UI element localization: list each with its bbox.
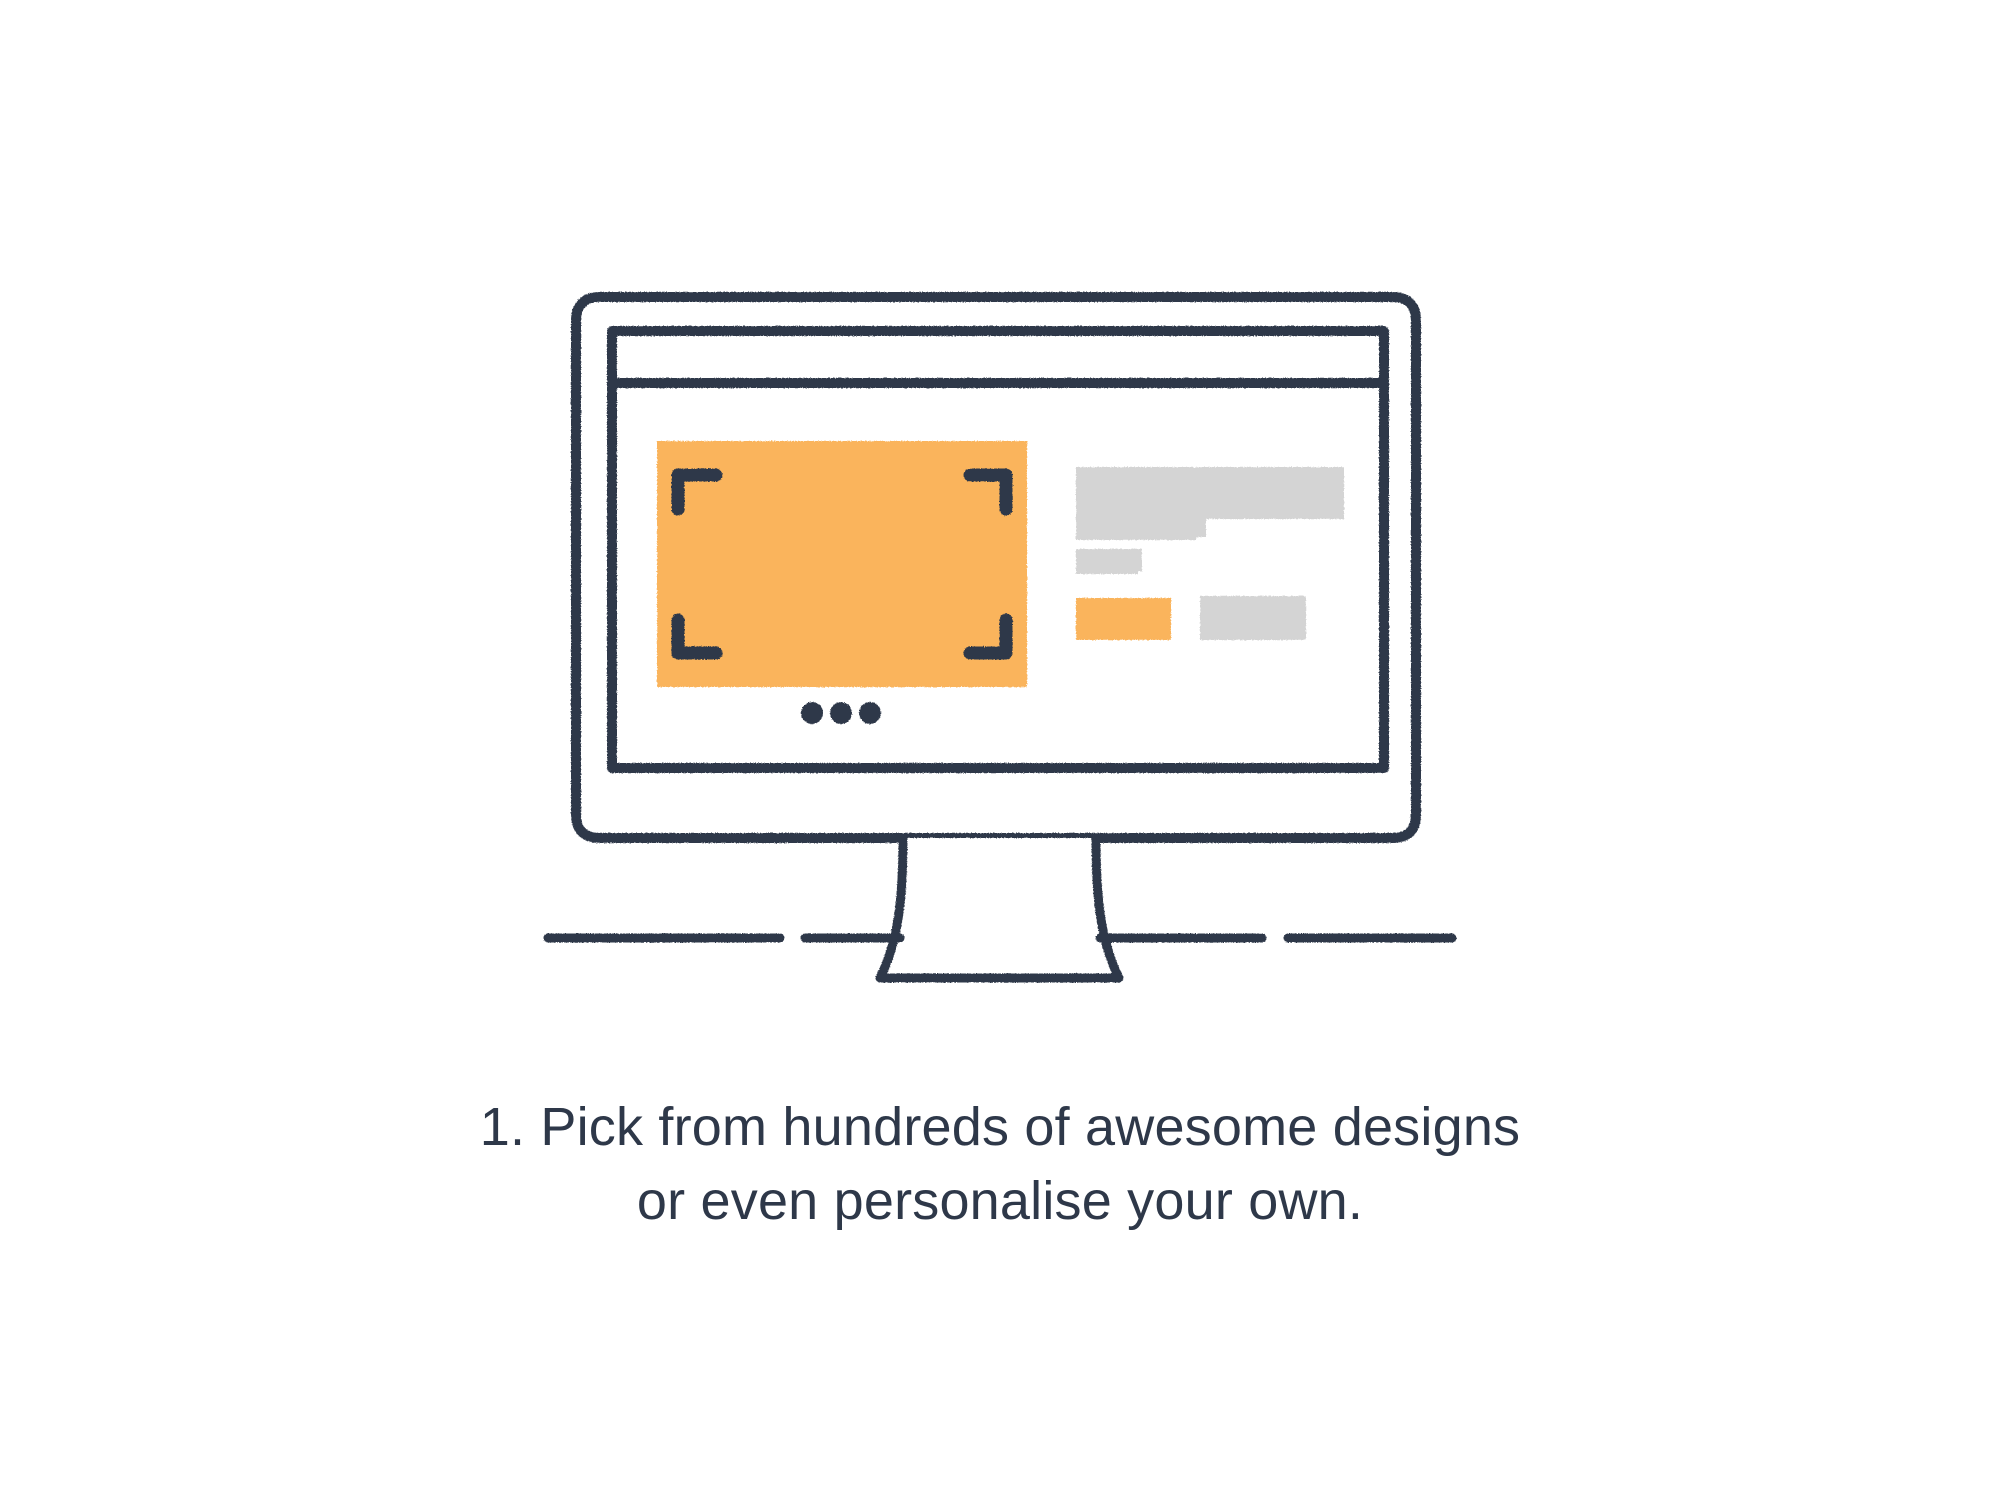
illustration-page: 1. Pick from hundreds of awesome designs… bbox=[0, 0, 2000, 1500]
caption-line-2: or even personalise your own. bbox=[0, 1164, 2000, 1238]
step-caption: 1. Pick from hundreds of awesome designs… bbox=[0, 1090, 2000, 1238]
primary-button-placeholder bbox=[1076, 598, 1171, 640]
body-line-1b-placeholder bbox=[1076, 513, 1206, 537]
carousel-dot-3 bbox=[859, 702, 881, 724]
caption-line-1: 1. Pick from hundreds of awesome designs bbox=[0, 1090, 2000, 1164]
monitor-stand-neck bbox=[880, 838, 1119, 978]
body-line-2b-placeholder bbox=[1076, 549, 1142, 571]
secondary-button-placeholder bbox=[1200, 596, 1306, 640]
carousel-dots[interactable] bbox=[801, 702, 881, 724]
monitor-illustration bbox=[0, 0, 2000, 1030]
carousel-dot-2 bbox=[830, 702, 852, 724]
carousel-dot-1 bbox=[801, 702, 823, 724]
heading-placeholder bbox=[1076, 467, 1344, 519]
